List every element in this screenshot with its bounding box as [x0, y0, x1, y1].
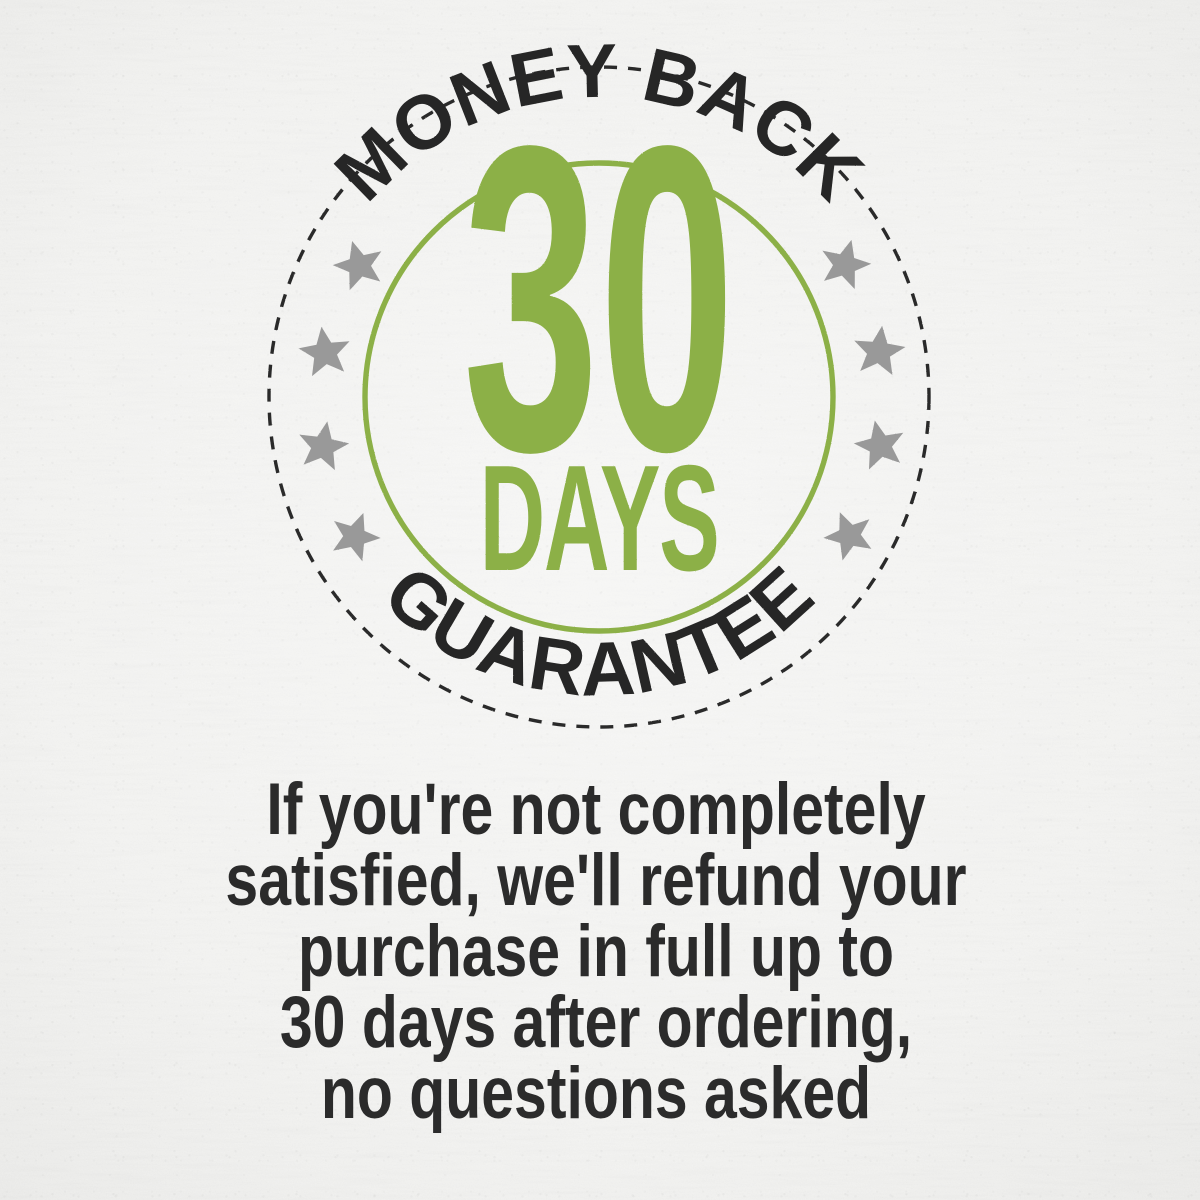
body-line: 30 days after ordering, — [280, 982, 912, 1064]
body-line: no questions asked — [321, 1053, 871, 1135]
guarantee-description: If you're not completely satisfied, we'l… — [0, 0, 1200, 1200]
poster-stage: MONEY BACK GUARANTEE 30 DAYS If you're n… — [0, 0, 1200, 1200]
body-line: If you're not completely — [266, 769, 925, 851]
body-line: purchase in full up to — [298, 911, 894, 993]
body-line: satisfied, we'll refund your — [225, 840, 966, 922]
